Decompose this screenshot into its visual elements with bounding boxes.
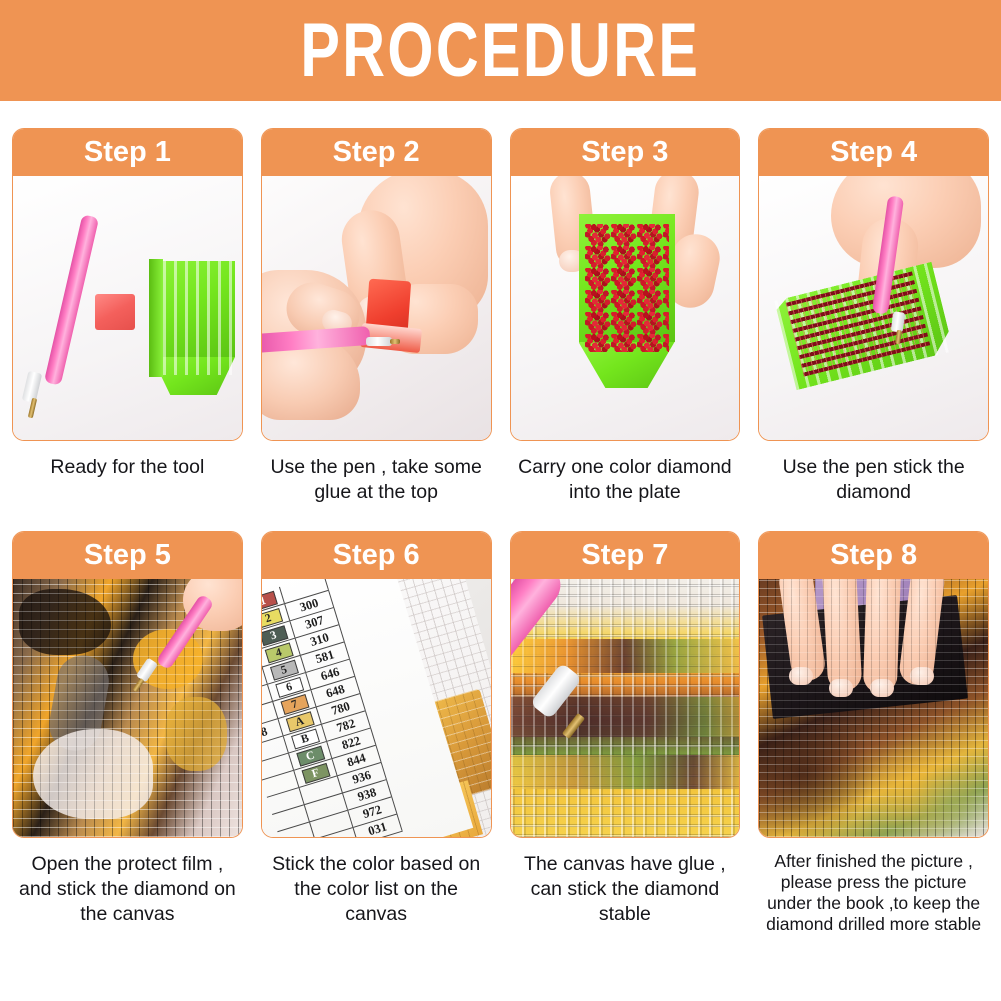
step-card-5[interactable]: Step 5 <box>12 531 243 838</box>
step-caption-5: Open the protect film , and stick the di… <box>12 838 243 927</box>
step-card-4[interactable]: Step 4 <box>758 128 989 441</box>
step-badge-4: Step 4 <box>759 129 988 176</box>
step-caption-4: Use the pen stick the diamond <box>758 441 989 505</box>
step-caption-1: Ready for the tool <box>12 441 243 480</box>
step-image-3 <box>511 176 740 440</box>
step-badge-2: Step 2 <box>262 129 491 176</box>
step-caption-7: The canvas have glue , can stick the dia… <box>510 838 741 927</box>
step-cell-1: Step 1 Ready for the tool <box>12 128 243 505</box>
page-header-banner: PROCEDURE <box>0 0 1001 101</box>
step-cell-8: Step 8 <box>758 531 989 935</box>
step-card-3[interactable]: Step 3 <box>510 128 741 441</box>
step-caption-8: After finished the picture , please pres… <box>758 838 989 935</box>
step-badge-3: Step 3 <box>511 129 740 176</box>
step-image-7 <box>511 579 740 837</box>
step-badge-1: Step 1 <box>13 129 242 176</box>
step-card-1[interactable]: Step 1 <box>12 128 243 441</box>
steps-row-2: Step 5 <box>0 505 1001 935</box>
step-card-7[interactable]: Step 7 <box>510 531 741 838</box>
step-card-8[interactable]: Step 8 <box>758 531 989 838</box>
step-badge-7: Step 7 <box>511 532 740 579</box>
step-image-8 <box>759 579 988 837</box>
step-image-2 <box>262 176 491 440</box>
step-cell-4: Step 4 <box>758 128 989 505</box>
step-image-1 <box>13 176 242 440</box>
step-image-4 <box>759 176 988 440</box>
step-badge-8: Step 8 <box>759 532 988 579</box>
step-cell-7: Step 7 The canvas have glue <box>510 531 741 935</box>
steps-row-1: Step 1 Ready for the tool <box>0 101 1001 505</box>
step-card-6[interactable]: Step 6 11 22300 33307 4 <box>261 531 492 838</box>
step-caption-3: Carry one color diamond into the plate <box>510 441 741 505</box>
step-caption-2: Use the pen , take some glue at the top <box>261 441 492 505</box>
step-image-6: 11 22300 33307 44310 55581 66646 77648 8… <box>262 579 491 837</box>
step-cell-3: Step 3 Carry one color diamond into the … <box>510 128 741 505</box>
step-cell-5: Step 5 <box>12 531 243 935</box>
step-image-5 <box>13 579 242 837</box>
step-cell-6: Step 6 11 22300 33307 4 <box>261 531 492 935</box>
step-badge-5: Step 5 <box>13 532 242 579</box>
step-card-2[interactable]: Step 2 <box>261 128 492 441</box>
step-badge-6: Step 6 <box>262 532 491 579</box>
step-cell-2: Step 2 <box>261 128 492 505</box>
step-caption-6: Stick the color based on the color list … <box>261 838 492 927</box>
page-title: PROCEDURE <box>301 13 701 89</box>
